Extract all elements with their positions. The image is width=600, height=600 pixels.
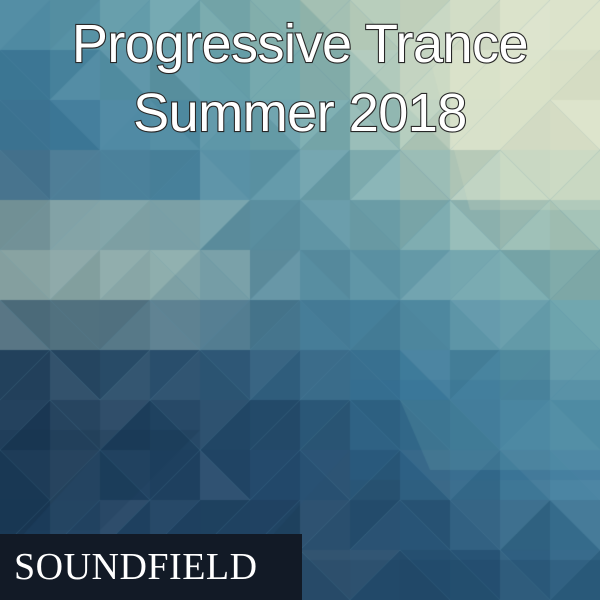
album-cover: Progressive Trance Summer 2018 SOUNDFIEL…	[0, 0, 600, 600]
low-poly-background	[0, 0, 600, 600]
label-logo-plate: SOUNDFIELD	[0, 534, 302, 600]
label-logo-text: SOUNDFIELD	[0, 548, 258, 586]
